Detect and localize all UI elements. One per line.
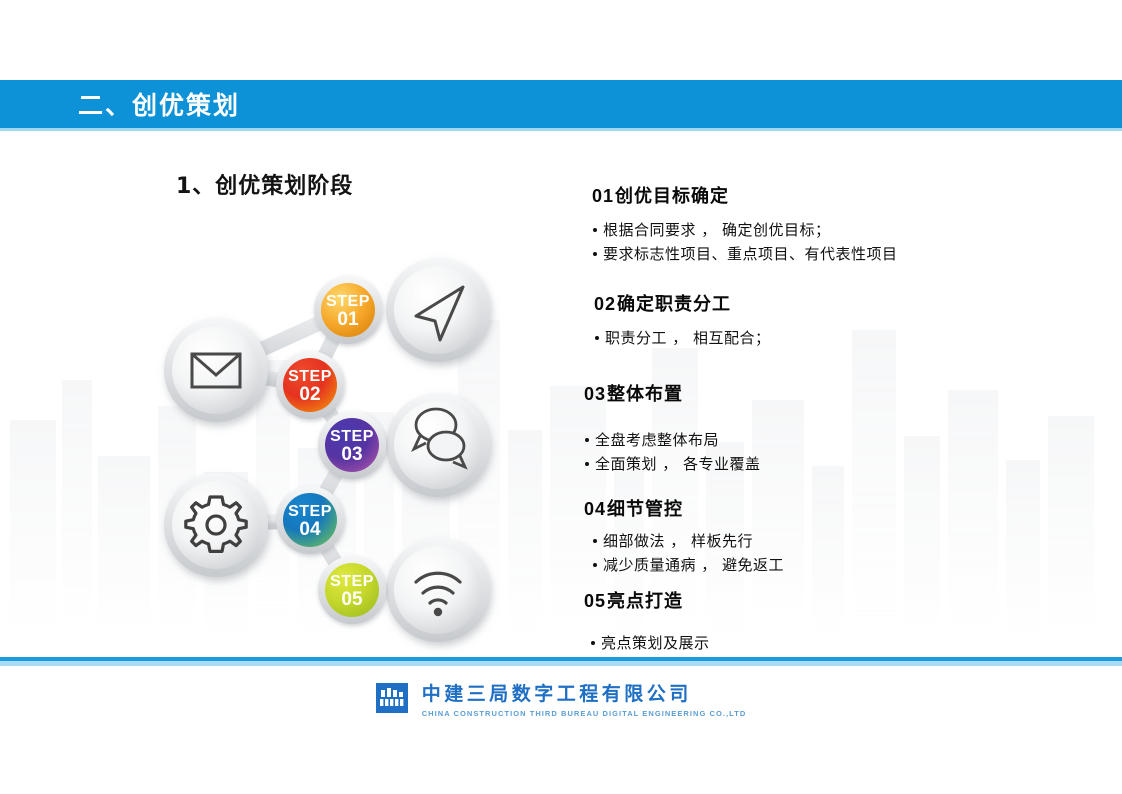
block-heading: 05亮点打造 xyxy=(584,587,710,613)
block-number: 05 xyxy=(584,591,606,611)
content-block-03: 03整体布置 全盘考虑整体布局 全面策划 ， 各专业覆盖 xyxy=(584,380,761,477)
step-badge-04: STEP 04 xyxy=(276,486,344,554)
block-bullets: 全盘考虑整体布局 全面策划 ， 各专业覆盖 xyxy=(584,428,761,477)
block-heading: 03整体布置 xyxy=(584,380,761,406)
svg-text:04: 04 xyxy=(299,519,321,540)
footer-rule-secondary xyxy=(0,661,1122,666)
svg-text:05: 05 xyxy=(341,589,363,610)
block-number: 01 xyxy=(592,186,614,206)
list-item: 全面策划 ， 各专业覆盖 xyxy=(584,452,761,476)
block-heading: 02确定职责分工 xyxy=(594,290,771,316)
list-item: 职责分工 ， 相互配合； xyxy=(594,326,771,350)
page-title: 二、创优策划 xyxy=(78,86,240,122)
content-block-02: 02确定职责分工 职责分工 ， 相互配合； xyxy=(594,290,771,350)
block-heading-text: 细节管控 xyxy=(607,499,683,520)
icon-circle-chat-bubbles xyxy=(386,393,490,497)
content-block-05: 05亮点打造 亮点策划及展示 xyxy=(584,587,710,655)
cscec-logo-glyph xyxy=(379,687,405,709)
block-heading-text: 创优目标确定 xyxy=(615,186,729,207)
list-item: 全盘考虑整体布局 xyxy=(584,428,761,452)
block-heading-text: 亮点打造 xyxy=(607,591,683,612)
footer: 中建三局数字工程有限公司 CHINA CONSTRUCTION THIRD BU… xyxy=(0,672,1122,724)
list-item: 减少质量通病 ， 避免返工 xyxy=(592,553,784,577)
company-name-cn: 中建三局数字工程有限公司 xyxy=(422,679,747,706)
svg-text:STEP: STEP xyxy=(288,503,332,520)
block-number: 02 xyxy=(594,294,616,314)
steps-infographic-svg: STEP 01 STEP 02 STEP 03 STEP 04 xyxy=(120,230,560,660)
block-bullets: 根据合同要求 ， 确定创优目标； 要求标志性项目、重点项目、有代表性项目 xyxy=(592,218,898,267)
step-badge-01: STEP 01 xyxy=(314,276,382,344)
company-name-en: CHINA CONSTRUCTION THIRD BUREAU DIGITAL … xyxy=(422,709,747,718)
svg-text:03: 03 xyxy=(341,444,362,465)
svg-text:STEP: STEP xyxy=(330,573,374,590)
svg-text:01: 01 xyxy=(337,309,359,330)
icon-circle-wifi xyxy=(386,538,490,642)
list-item: 根据合同要求 ， 确定创优目标； xyxy=(592,218,898,242)
step-badge-02: STEP 02 xyxy=(276,351,344,419)
subtitle: 1、创优策划阶段 xyxy=(176,168,353,200)
icon-circle-navigation-arrow xyxy=(386,258,490,362)
icon-circle-gear xyxy=(164,473,268,577)
header-underline xyxy=(0,128,1122,131)
svg-text:STEP: STEP xyxy=(326,293,370,310)
icon-circle-envelope xyxy=(164,318,268,422)
content-block-04: 04细节管控 细部做法 ， 样板先行 减少质量通病 ， 避免返工 xyxy=(584,495,784,578)
block-heading-text: 整体布置 xyxy=(607,384,683,405)
slide-canvas: 二、创优策划 1、创优策划阶段 xyxy=(0,0,1122,794)
steps-infographic: STEP 01 STEP 02 STEP 03 STEP 04 xyxy=(120,230,560,660)
block-bullets: 亮点策划及展示 xyxy=(584,631,710,655)
step-badge-03: STEP 03 xyxy=(318,411,386,479)
cscec-logo-icon xyxy=(376,683,408,713)
block-bullets: 职责分工 ， 相互配合； xyxy=(594,326,771,350)
list-item: 细部做法 ， 样板先行 xyxy=(592,529,784,553)
list-item: 要求标志性项目、重点项目、有代表性项目 xyxy=(592,242,898,266)
svg-text:STEP: STEP xyxy=(288,368,332,385)
block-heading-text: 确定职责分工 xyxy=(617,294,731,315)
svg-text:02: 02 xyxy=(299,384,320,405)
block-bullets: 细部做法 ， 样板先行 减少质量通病 ， 避免返工 xyxy=(584,529,784,578)
list-item: 亮点策划及展示 xyxy=(590,631,710,655)
block-number: 03 xyxy=(584,384,606,404)
section-header-band: 二、创优策划 xyxy=(0,80,1122,128)
block-number: 04 xyxy=(584,499,606,519)
step-badge-05: STEP 05 xyxy=(318,556,386,624)
block-heading: 04细节管控 xyxy=(584,495,784,521)
company-identity: 中建三局数字工程有限公司 CHINA CONSTRUCTION THIRD BU… xyxy=(422,679,747,718)
content-block-01: 01创优目标确定 根据合同要求 ， 确定创优目标； 要求标志性项目、重点项目、有… xyxy=(592,182,898,267)
block-heading: 01创优目标确定 xyxy=(592,182,898,208)
svg-text:STEP: STEP xyxy=(330,428,374,445)
